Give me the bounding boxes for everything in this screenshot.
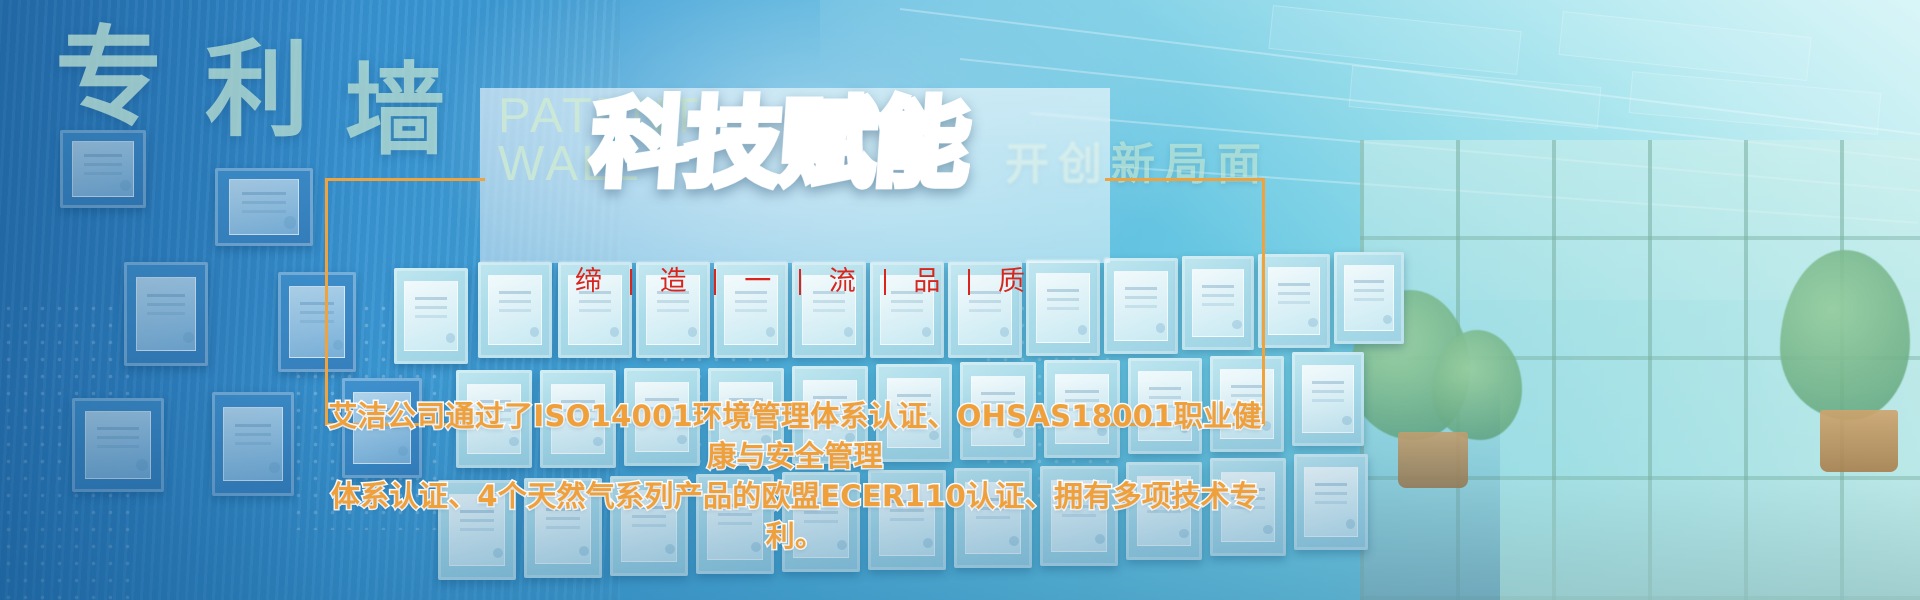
body-copy: 艾洁公司通过了ISO14001环境管理体系认证、OHSAS18001职业健康与安… — [325, 396, 1265, 556]
plant-pot — [1820, 410, 1898, 472]
wall-character-3: 墙 — [345, 60, 445, 160]
frame-top-left-edge — [325, 178, 485, 181]
frame-right-edge — [1262, 178, 1265, 426]
body-copy-line-2: 体系认证、4个天然气系列产品的欧盟ECER110认证、拥有多项技术专利。 — [325, 476, 1265, 556]
wall-character-1: 专 — [55, 24, 163, 132]
certificate-frame — [1334, 252, 1404, 344]
wall-character-2: 利 — [205, 38, 309, 142]
body-copy-line-1: 艾洁公司通过了ISO14001环境管理体系认证、OHSAS18001职业健康与安… — [325, 396, 1265, 476]
frame-top-right-edge — [1105, 178, 1265, 181]
orange-bracket-frame — [325, 178, 1265, 426]
certificate-frame — [1258, 254, 1330, 348]
patent-wall-banner: 专 利 墙 开创新局面 PATENT WALL 科技赋能 缔 造 一 流 品 质 — [0, 0, 1920, 600]
frame-left-edge — [325, 178, 328, 426]
